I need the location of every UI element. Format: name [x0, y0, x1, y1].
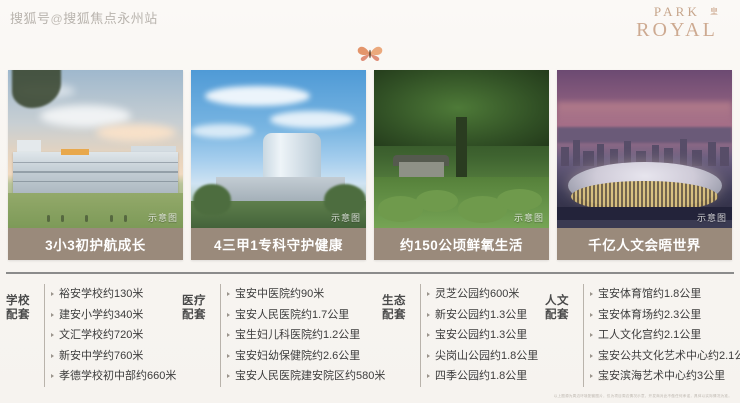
brand-logo: PARK ROYAL 皇: [622, 4, 732, 41]
list-item: 宝安公共文化艺术中心约2.1公里在建中: [590, 346, 740, 367]
amenity-title-line-1: 人文: [545, 294, 579, 308]
list-item-text: 宝生妇儿科医院约1.2公里: [235, 329, 360, 341]
section-divider: [0, 44, 740, 64]
highlight-card-ecology[interactable]: 示意图 约150公顷鲜氧生活: [374, 70, 549, 260]
amenity-list: 灵芝公园约600米 新安公园约1.3公里 宝安公园约1.3公里 尖岗山公园约1.…: [420, 284, 545, 387]
list-item: 宝安体育场约2.3公里: [590, 305, 740, 326]
horizontal-divider: [6, 272, 734, 274]
photo-watermark: 示意图: [148, 211, 178, 224]
amenity-group-title: 生态 配套: [382, 284, 416, 322]
card-caption: 千亿人文会晤世界: [557, 228, 732, 260]
highlight-card-row: 示意图 3小3初护航成长 示意图 4三甲1专科守护健康 示意图: [8, 70, 732, 260]
list-item-text: 宝安滨海艺术中心约3公里: [598, 370, 725, 382]
list-item-text: 宝安体育馆约1.8公里: [598, 288, 701, 300]
amenity-group-culture: 人文 配套 宝安体育馆约1.8公里 宝安体育场约2.3公里 工人文化宫约2.1公…: [545, 284, 734, 390]
list-item: 灵芝公园约600米: [427, 284, 545, 305]
card-caption: 3小3初护航成长: [8, 228, 183, 260]
list-item: 宝安滨海艺术中心约3公里在建中: [590, 366, 740, 387]
bullet-icon: [427, 333, 430, 337]
list-item: 建安小学约340米: [51, 305, 182, 326]
butterfly-icon: [357, 44, 383, 64]
list-item-text: 宝安人民医院约1.7公里: [235, 309, 349, 321]
photo-watermark: 示意图: [697, 211, 727, 224]
amenity-group-title: 学校 配套: [6, 284, 40, 322]
photo-watermark: 示意图: [331, 211, 361, 224]
list-item-text: 建安小学约340米: [59, 309, 143, 321]
amenity-list: 宝安体育馆约1.8公里 宝安体育场约2.3公里 工人文化宫约2.1公里 宝安公共…: [583, 284, 740, 387]
bullet-icon: [427, 292, 430, 296]
bullet-icon: [427, 374, 430, 378]
legal-disclaimer: 以上图源为周边环境配套图片，仅为项目周边情况示意，开发商对此不做任何承诺，具体以…: [476, 394, 732, 399]
amenity-title-line-2: 配套: [382, 308, 416, 322]
amenity-title-line-1: 医疗: [182, 294, 216, 308]
hospital-tower-photo: 示意图: [191, 70, 366, 228]
bullet-icon: [590, 374, 593, 378]
list-item: 孝德学校初中部约660米: [51, 366, 182, 387]
school-campus-photo: 示意图: [8, 70, 183, 228]
list-item: 新安公园约1.3公里: [427, 305, 545, 326]
amenity-group-ecology: 生态 配套 灵芝公园约600米 新安公园约1.3公里 宝安公园约1.3公里 尖岗…: [382, 284, 545, 390]
sohu-label: 搜狐号: [10, 11, 51, 26]
list-item-text: 宝安公共文化艺术中心约2.1公里: [598, 350, 740, 362]
sohu-at-symbol: @: [51, 12, 64, 26]
amenities-section: 学校 配套 裕安学校约130米 建安小学约340米 文汇学校约720米 新安中学…: [6, 284, 734, 390]
bullet-icon: [590, 354, 593, 358]
list-item-text: 灵芝公园约600米: [435, 288, 519, 300]
sohu-account-tag: 搜狐号@搜狐焦点永州站: [10, 8, 158, 27]
park-garden-photo: 示意图: [374, 70, 549, 228]
list-item: 尖岗山公园约1.8公里: [427, 346, 545, 367]
amenity-title-line-2: 配套: [182, 308, 216, 322]
list-item: 新安中学约760米: [51, 346, 182, 367]
amenity-title-line-1: 学校: [6, 294, 40, 308]
amenity-list: 宝安中医院约90米 宝安人民医院约1.7公里 宝生妇儿科医院约1.2公里 宝安妇…: [220, 284, 385, 387]
card-caption: 约150公顷鲜氧生活: [374, 228, 549, 260]
bullet-icon: [427, 354, 430, 358]
list-item-text: 宝安公园约1.3公里: [435, 329, 527, 341]
list-item: 文汇学校约720米: [51, 325, 182, 346]
list-item: 宝生妇儿科医院约1.2公里: [227, 325, 385, 346]
highlight-card-school[interactable]: 示意图 3小3初护航成长: [8, 70, 183, 260]
photo-watermark: 示意图: [514, 211, 544, 224]
amenity-title-line-2: 配套: [6, 308, 40, 322]
brand-line-2: ROYAL: [622, 20, 732, 41]
list-item-text: 新安中学约760米: [59, 350, 143, 362]
list-item-text: 孝德学校初中部约660米: [59, 370, 176, 382]
bullet-icon: [427, 313, 430, 317]
card-caption: 4三甲1专科守护健康: [191, 228, 366, 260]
list-item-subnote: 在建中: [598, 369, 609, 390]
bullet-icon: [51, 333, 54, 337]
bullet-icon: [227, 354, 230, 358]
amenity-group-title: 人文 配套: [545, 284, 579, 322]
list-item: 工人文化宫约2.1公里: [590, 325, 740, 346]
list-item: 四季公园约1.8公里: [427, 366, 545, 387]
bullet-icon: [51, 313, 54, 317]
amenity-title-line-1: 生态: [382, 294, 416, 308]
bullet-icon: [227, 292, 230, 296]
bullet-icon: [227, 374, 230, 378]
amenity-group-school: 学校 配套 裕安学校约130米 建安小学约340米 文汇学校约720米 新安中学…: [6, 284, 182, 390]
amenity-group-title: 医疗 配套: [182, 284, 216, 322]
bullet-icon: [590, 313, 593, 317]
list-item: 宝安公园约1.3公里: [427, 325, 545, 346]
highlight-card-culture[interactable]: 示意图 千亿人文会晤世界: [557, 70, 732, 260]
list-item-text: 四季公园约1.8公里: [435, 370, 527, 382]
list-item-text: 文汇学校约720米: [59, 329, 143, 341]
bullet-icon: [227, 313, 230, 317]
list-item: 宝安人民医院建安院区约580米: [227, 366, 385, 387]
brand-seal-icon: 皇: [710, 6, 718, 17]
amenity-title-line-2: 配套: [545, 308, 579, 322]
stadium-night-photo: 示意图: [557, 70, 732, 228]
bullet-icon: [51, 354, 54, 358]
list-item: 宝安中医院约90米: [227, 284, 385, 305]
bullet-icon: [590, 292, 593, 296]
list-item-text: 新安公园约1.3公里: [435, 309, 527, 321]
bullet-icon: [51, 374, 54, 378]
list-item-text: 宝安人民医院建安院区约580米: [235, 370, 385, 382]
list-item: 裕安学校约130米: [51, 284, 182, 305]
amenity-group-medical: 医疗 配套 宝安中医院约90米 宝安人民医院约1.7公里 宝生妇儿科医院约1.2…: [182, 284, 382, 390]
amenity-list: 裕安学校约130米 建安小学约340米 文汇学校约720米 新安中学约760米 …: [44, 284, 182, 387]
list-item: 宝安人民医院约1.7公里: [227, 305, 385, 326]
list-item-text: 宝安中医院约90米: [235, 288, 324, 300]
bullet-icon: [590, 333, 593, 337]
list-item-text: 尖岗山公园约1.8公里: [435, 350, 538, 362]
list-item-text: 工人文化宫约2.1公里: [598, 329, 701, 341]
list-item: 宝安体育馆约1.8公里: [590, 284, 740, 305]
list-item-text: 裕安学校约130米: [59, 288, 143, 300]
sohu-account-name: 搜狐焦点永州站: [63, 11, 158, 26]
list-item: 宝安妇幼保健院约2.6公里: [227, 346, 385, 367]
bullet-icon: [227, 333, 230, 337]
highlight-card-medical[interactable]: 示意图 4三甲1专科守护健康: [191, 70, 366, 260]
list-item-text: 宝安体育场约2.3公里: [598, 309, 701, 321]
list-item-text: 宝安妇幼保健院约2.6公里: [235, 350, 360, 362]
bullet-icon: [51, 292, 54, 296]
